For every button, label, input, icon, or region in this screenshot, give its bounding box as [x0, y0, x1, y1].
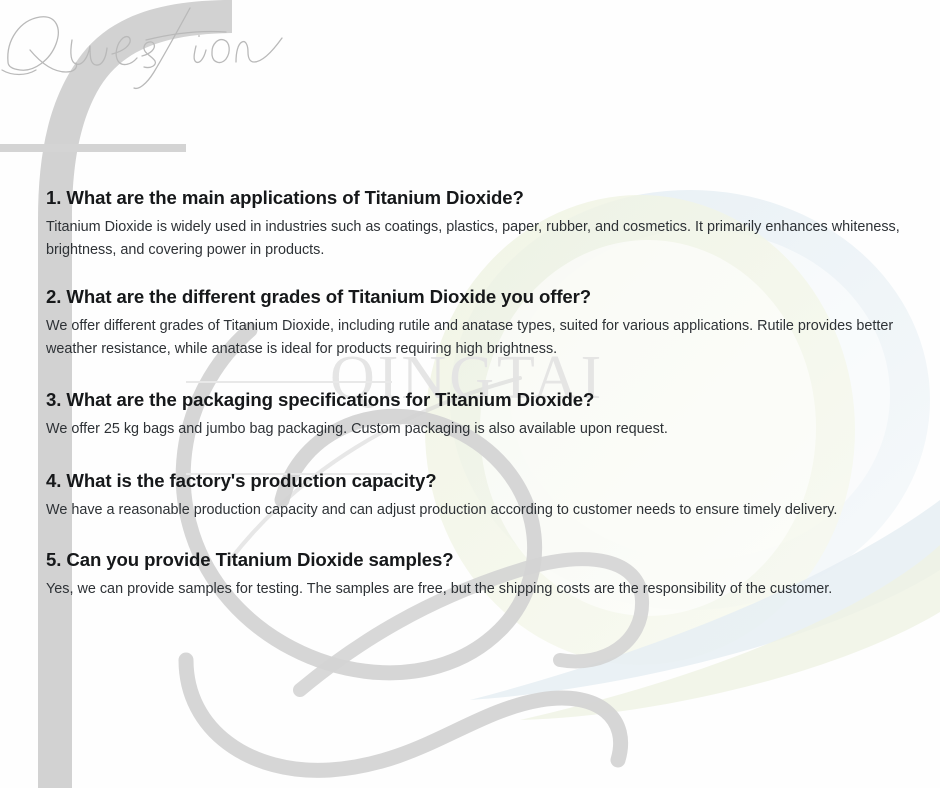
faq-answer: Yes, we can provide samples for testing.… [46, 578, 914, 601]
faq-answer: Titanium Dioxide is widely used in indus… [46, 216, 914, 263]
faq-content: 1. What are the main applications of Tit… [0, 0, 940, 601]
faq-question: 3. What are the packaging specifications… [46, 388, 914, 413]
faq-question: 1. What are the main applications of Tit… [46, 186, 914, 211]
faq-question: 2. What are the different grades of Tita… [46, 285, 914, 310]
faq-item: 2. What are the different grades of Tita… [46, 285, 914, 361]
faq-item: 1. What are the main applications of Tit… [46, 186, 914, 262]
faq-item: 5. Can you provide Titanium Dioxide samp… [46, 548, 914, 601]
faq-item: 3. What are the packaging specifications… [46, 388, 914, 441]
faq-question: 4. What is the factory's production capa… [46, 469, 914, 494]
faq-question: 5. Can you provide Titanium Dioxide samp… [46, 548, 914, 573]
faq-answer: We have a reasonable production capacity… [46, 499, 914, 522]
faq-answer: We offer 25 kg bags and jumbo bag packag… [46, 418, 914, 441]
faq-answer: We offer different grades of Titanium Di… [46, 315, 914, 362]
faq-page: QINGTAI [0, 0, 940, 788]
faq-item: 4. What is the factory's production capa… [46, 469, 914, 522]
